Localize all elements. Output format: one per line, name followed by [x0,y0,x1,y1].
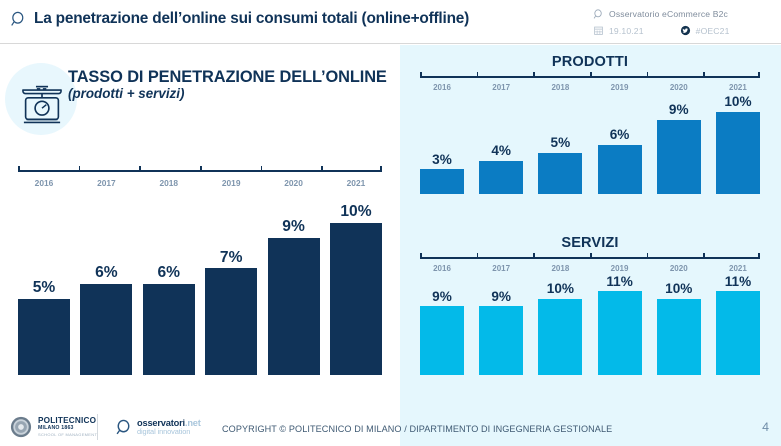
axis-tick [703,253,705,258]
bar [598,291,642,375]
axis-tick [79,166,81,171]
bar-value-label: 11% [606,275,632,289]
bar-value-label: 6% [610,128,630,142]
axis-tick [139,166,141,171]
bar-column: 9% [657,76,701,194]
category-label: 2020 [657,264,701,273]
observatory-name: Osservatorio eCommerce B2c [609,9,728,19]
bar [538,299,582,375]
bar-column: 7% [205,170,257,375]
osservatori-tagline: digital innovation [137,428,201,436]
axis-tick [590,253,592,258]
event-hashtag[interactable]: #OEC21 [696,26,730,36]
axis-tick [200,166,202,171]
bar-value-label: 6% [158,265,181,281]
lens-icon [10,11,27,28]
polimi-seal-icon [10,416,32,438]
axis-end-cap [420,253,422,259]
bar-column: 10% [538,257,582,375]
osservatori-wordmark: osservatori.net digital innovation [137,418,201,436]
page-header: La penetrazione dell’online sui consumi … [0,0,781,44]
bar-value-label: 11% [725,275,751,289]
bar [598,145,642,195]
category-label: 2021 [330,178,382,188]
servizi-chart-title: SERVIZI [420,235,760,251]
date-hashtag-line: 19.10.21 #OEC21 [593,22,769,39]
left-chart-subtitle: (prodotti + servizi) [68,87,394,102]
penetrazione-axis [18,170,382,172]
axis-end-cap [758,72,760,78]
axis-tick [533,253,535,258]
servizi-chart: SERVIZI 9%9%10%11%10%11% 201620172018201… [420,235,760,375]
bar [18,299,70,375]
axis-end-cap [420,72,422,78]
penetrazione-bars: 5%6%6%7%9%10% [18,170,382,375]
bar-column: 9% [268,170,320,375]
bar-column: 10% [716,76,760,194]
copyright-text: COPYRIGHT © POLITECNICO DI MILANO / DIPA… [222,424,612,434]
servizi-axis [420,257,760,259]
header-title-group: La penetrazione dell’online sui consumi … [10,10,469,28]
bar-value-label: 6% [95,265,118,281]
category-label: 2017 [479,83,523,92]
header-meta: Osservatorio eCommerce B2c 19.10.21 #OEC [593,6,769,39]
bar [479,306,523,375]
category-label: 2019 [205,178,257,188]
lens-icon [115,419,132,436]
bar-column: 5% [538,76,582,194]
axis-tick [533,72,535,77]
bar-column: 11% [716,257,760,375]
bar [143,284,195,376]
bar-value-label: 9% [282,219,305,235]
observatory-line: Osservatorio eCommerce B2c [593,6,769,22]
footer-divider [97,414,98,440]
category-label: 2017 [80,178,132,188]
axis-tick [647,253,649,258]
bar-value-label: 10% [665,282,692,296]
prodotti-categories: 201620172018201920202021 [420,83,760,92]
lens-icon [593,9,604,20]
category-label: 2016 [420,83,464,92]
servizi-plot: 9%9%10%11%10%11% 20162017201820192020202… [420,257,760,375]
kitchen-scale-icon [14,78,70,128]
bar [80,284,132,376]
bar-value-label: 9% [491,290,511,304]
politecnico-logo: POLITECNICO MILANO 1863 SCHOOL OF MANAGE… [10,416,97,438]
bar [538,153,582,194]
axis-tick [477,253,479,258]
bar-value-label: 10% [547,282,574,296]
bar [268,238,320,375]
category-label: 2019 [598,264,642,273]
prodotti-axis [420,76,760,78]
politecnico-line3: SCHOOL OF MANAGEMENT [38,433,97,437]
axis-end-cap [758,253,760,259]
bar [420,306,464,375]
axis-end-cap [380,166,382,172]
category-label: 2016 [18,178,70,188]
bar [420,169,464,194]
page-title: La penetrazione dell’online sui consumi … [34,10,469,28]
category-label: 2018 [143,178,195,188]
bar [716,291,760,375]
servizi-categories: 201620172018201920202021 [420,264,760,273]
penetrazione-chart: 5%6%6%7%9%10% 201620172018201920202021 [18,170,382,375]
calendar-icon [593,25,604,36]
category-label: 2019 [598,83,642,92]
prodotti-plot: 3%4%5%6%9%10% 201620172018201920202021 [420,76,760,194]
event-date-group: 19.10.21 [593,25,644,36]
bar-column: 9% [420,257,464,375]
left-chart-title: TASSO DI PENETRAZIONE DELL’ONLINE [68,69,394,86]
osservatori-logo: osservatori.net digital innovation [115,418,201,436]
category-label: 2017 [479,264,523,273]
axis-tick [590,72,592,77]
bar-column: 6% [598,76,642,194]
category-label: 2021 [716,264,760,273]
axis-tick [261,166,263,171]
bar-value-label: 3% [432,153,452,167]
penetrazione-plot: 5%6%6%7%9%10% 201620172018201920202021 [18,170,382,375]
bar-value-label: 5% [33,280,56,296]
page-number: 4 [762,420,769,434]
bar-column: 10% [657,257,701,375]
hashtag-group[interactable]: #OEC21 [680,25,730,36]
bar-column: 3% [420,76,464,194]
left-panel: TASSO DI PENETRAZIONE DELL’ONLINE (prodo… [0,45,400,406]
category-label: 2018 [538,264,582,273]
category-label: 2016 [420,264,464,273]
category-label: 2018 [538,83,582,92]
bar-column: 5% [18,170,70,375]
politecnico-wordmark: POLITECNICO MILANO 1863 SCHOOL OF MANAGE… [38,417,97,437]
axis-tick [647,72,649,77]
category-label: 2020 [268,178,320,188]
bar-column: 10% [330,170,382,375]
bar-column: 11% [598,257,642,375]
bar-value-label: 7% [220,250,243,266]
bar-value-label: 9% [669,103,689,117]
prodotti-bars: 3%4%5%6%9%10% [420,76,760,194]
bar-column: 9% [479,257,523,375]
bar-column: 6% [80,170,132,375]
bar [716,112,760,195]
event-date: 19.10.21 [609,26,644,36]
bar-value-label: 10% [724,95,751,109]
bar-value-label: 9% [432,290,452,304]
bar-column: 4% [479,76,523,194]
bar [205,268,257,375]
bar [330,223,382,376]
right-panel: PRODOTTI 3%4%5%6%9%10% 20162017201820192… [400,45,781,446]
prodotti-chart: PRODOTTI 3%4%5%6%9%10% 20162017201820192… [420,54,760,194]
bar [657,120,701,194]
page-footer: POLITECNICO MILANO 1863 SCHOOL OF MANAGE… [0,406,781,446]
category-label: 2021 [716,83,760,92]
axis-tick [703,72,705,77]
category-label: 2020 [657,83,701,92]
axis-tick [321,166,323,171]
axis-tick [477,72,479,77]
twitter-icon[interactable] [680,25,691,36]
penetrazione-categories: 201620172018201920202021 [18,178,382,188]
bar-value-label: 5% [551,136,571,150]
bar [657,299,701,375]
politecnico-line2: MILANO 1863 [38,426,97,432]
bar-value-label: 10% [340,204,371,220]
bar-column: 6% [143,170,195,375]
bar-value-label: 4% [491,144,511,158]
bar [479,161,523,194]
prodotti-chart-title: PRODOTTI [420,54,760,70]
left-title-block: TASSO DI PENETRAZIONE DELL’ONLINE (prodo… [68,69,394,102]
axis-end-cap [18,166,20,172]
servizi-bars: 9%9%10%11%10%11% [420,257,760,375]
